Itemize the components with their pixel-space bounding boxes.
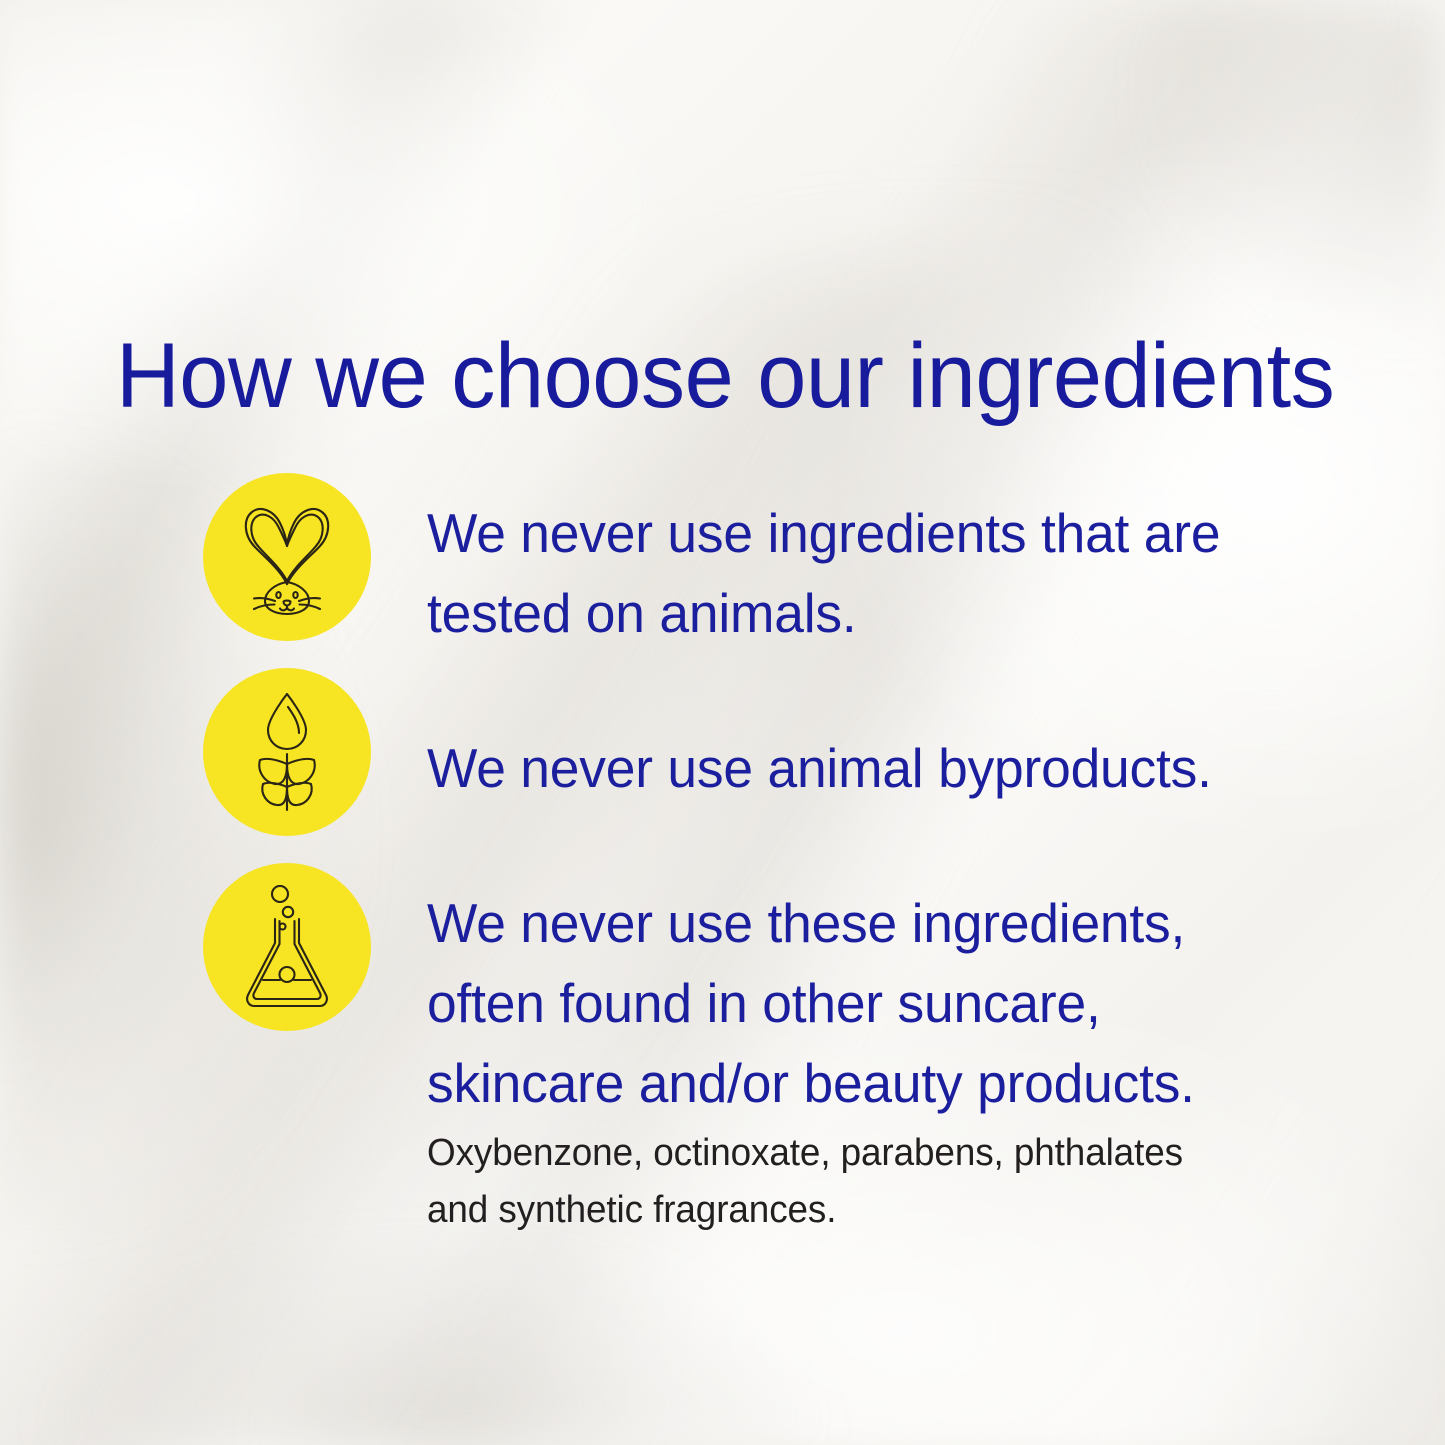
- badge-no-harmful-ingredients: [203, 863, 371, 1031]
- list-item-text: We never use animal byproducts.: [427, 728, 1281, 808]
- badge-no-animal-byproducts: [203, 668, 371, 836]
- badge-cruelty-free: [203, 473, 371, 641]
- list-item-text: We never use ingredients that are tested…: [427, 493, 1281, 653]
- flask-bubbles-icon: [237, 885, 337, 1009]
- page-title: How we choose our ingredients: [116, 330, 1334, 422]
- ingredients-poster: How we choose our ingredients: [0, 0, 1445, 1445]
- bunny-heart-ears-icon: [235, 498, 339, 616]
- plant-droplet-icon: [237, 692, 337, 812]
- list-item-text: We never use these ingredients, often fo…: [427, 883, 1281, 1123]
- list-item-note: Oxybenzone, octinoxate, parabens, phthal…: [427, 1125, 1222, 1239]
